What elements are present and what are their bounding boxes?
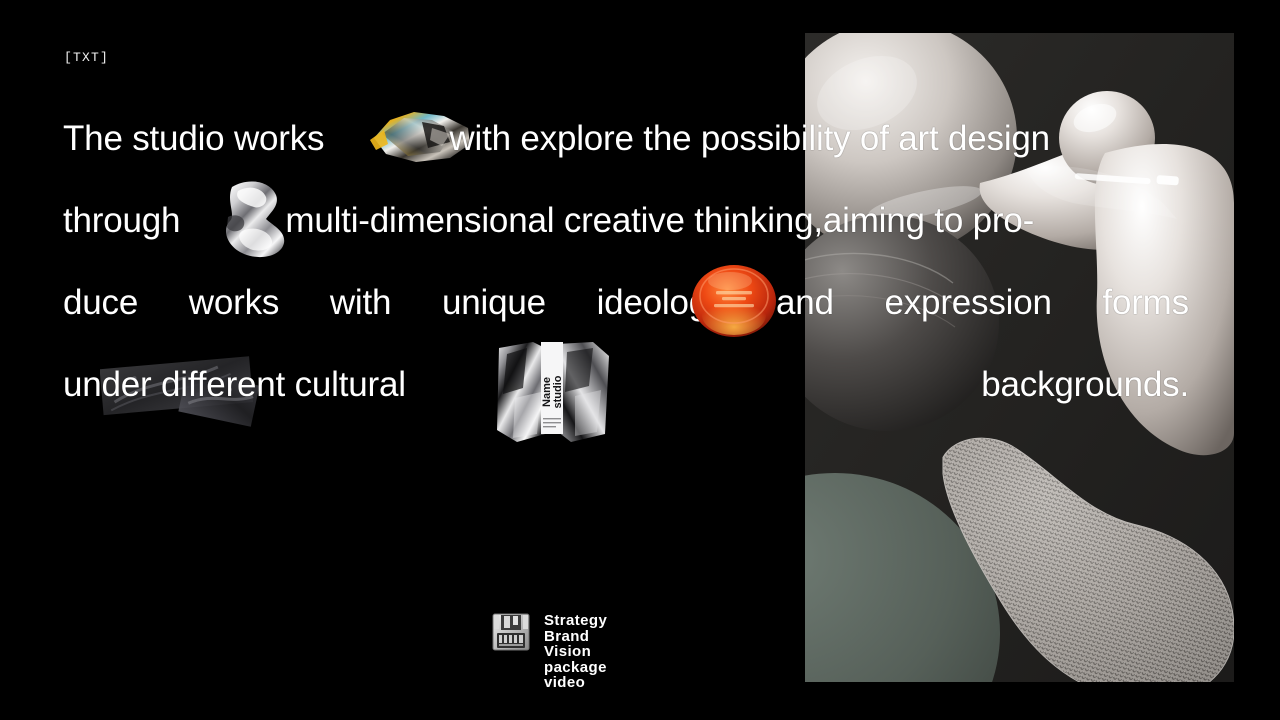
floppy-disk-icon <box>492 613 530 651</box>
hero-3d-render-panel <box>805 33 1234 682</box>
copy-line-2-part-1: through <box>63 198 180 244</box>
floppy-disk-svg <box>492 613 530 651</box>
service-item-package[interactable]: package <box>544 660 607 676</box>
red-lozenge-object <box>690 263 778 339</box>
foil-pouch-svg: Name studio <box>497 342 609 444</box>
hero-render-svg <box>805 33 1234 682</box>
foil-brand-studio: studio <box>552 375 564 408</box>
copy-word: unique <box>442 280 546 326</box>
copy-word: works <box>189 280 279 326</box>
service-item-video[interactable]: video <box>544 675 607 691</box>
txt-tag-label: [TXT] <box>64 50 109 65</box>
copy-word: with <box>330 280 391 326</box>
chrome-blob-object <box>212 177 300 261</box>
film-tape-strips-object <box>100 352 268 434</box>
services-block: Strategy Brand Vision package video <box>492 613 607 691</box>
foil-pouch-object: Name studio <box>497 342 609 444</box>
copy-word: duce <box>63 280 138 326</box>
film-tape-strips-svg <box>100 352 268 434</box>
iridescent-wrapper-svg <box>370 108 476 164</box>
copy-line-1-part-1: The studio works <box>63 116 324 162</box>
service-item-brand[interactable]: Brand <box>544 629 607 645</box>
chrome-blob-svg <box>212 177 300 261</box>
service-item-vision[interactable]: Vision <box>544 644 607 660</box>
iridescent-wrapper-object <box>370 108 476 164</box>
service-item-strategy[interactable]: Strategy <box>544 613 607 629</box>
services-list: Strategy Brand Vision package video <box>544 613 607 691</box>
red-lozenge-svg <box>690 263 778 339</box>
